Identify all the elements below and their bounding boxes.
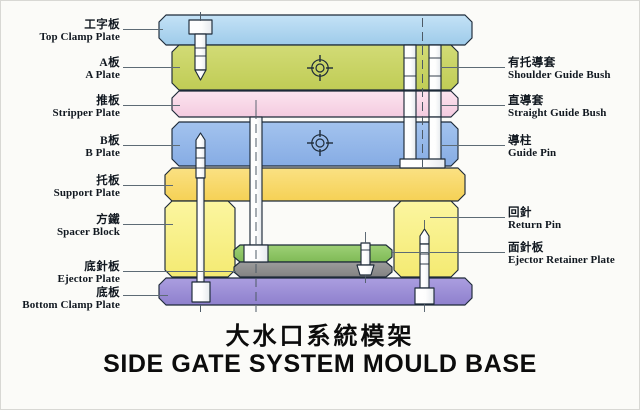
leader-spacer-block [123, 224, 173, 225]
label-cn: 回針 [508, 208, 561, 220]
support-plate [165, 168, 465, 201]
return-pin [420, 244, 429, 288]
leader-stripper-plate [123, 105, 180, 106]
bottom-clamp-bolt [192, 282, 210, 302]
label-cn: 導柱 [508, 136, 556, 148]
label-cn: 有托導套 [508, 58, 611, 70]
label-en: Stripper Plate [53, 108, 121, 119]
label-cn: 底板 [22, 288, 120, 300]
label-cn: 工字板 [39, 20, 120, 32]
leader-bottom-clamp-plate [123, 295, 168, 296]
label-en: Ejector Retainer Plate [508, 255, 615, 266]
label-cn: 面針板 [508, 243, 615, 255]
ejector-bolt [361, 243, 370, 265]
label-top-clamp-plate: 工字板 Top Clamp Plate [39, 20, 120, 43]
label-cn: 托板 [54, 176, 120, 188]
label-en: Return Pin [508, 220, 561, 231]
label-en: Shoulder Guide Bush [508, 70, 611, 81]
label-en: Top Clamp Plate [39, 32, 120, 43]
label-en: Guide Pin [508, 148, 556, 159]
leader-straight-guide-bush [441, 105, 505, 106]
leader-top-clamp-plate [123, 29, 163, 30]
label-en: Ejector Plate [58, 274, 120, 285]
leader-return-pin [430, 217, 505, 218]
straight-guide-bush [404, 91, 416, 117]
label-cn: 直導套 [508, 96, 606, 108]
leader-guide-pin [441, 145, 505, 146]
label-a-plate: A板 A Plate [85, 58, 120, 81]
label-ejector-plate: 底針板 Ejector Plate [58, 262, 120, 285]
label-cn: 推板 [53, 96, 121, 108]
leader-ejector-retainer-plate [392, 252, 505, 253]
straight-guide-bush [429, 91, 441, 117]
label-ejector-retainer-plate: 面針板 Ejector Retainer Plate [508, 243, 615, 266]
label-en: B Plate [85, 148, 120, 159]
diagram-canvas: 工字板 Top Clamp Plate A板 A Plate 推板 Stripp… [0, 0, 640, 410]
label-b-plate: B板 B Plate [85, 136, 120, 159]
shoulder-guide-bush [404, 45, 416, 90]
leader-b-plate [123, 145, 180, 146]
guide-pin [429, 117, 441, 165]
title-chinese: 大水口系統模架 [0, 316, 640, 351]
label-en: A Plate [85, 70, 120, 81]
label-spacer-block: 方鐵 Spacer Block [57, 215, 120, 238]
label-cn: 底針板 [58, 262, 120, 274]
support-plate-bolt [196, 148, 205, 178]
title-english: SIDE GATE SYSTEM MOULD BASE [0, 350, 640, 379]
support-plate-bolt [197, 178, 204, 282]
top-clamp-bolt [189, 20, 212, 34]
label-en: Bottom Clamp Plate [22, 300, 120, 311]
return-pin-bolt [415, 288, 434, 304]
label-bottom-clamp-plate: 底板 Bottom Clamp Plate [22, 288, 120, 311]
shoulder-guide-bush [429, 45, 441, 90]
label-cn: A板 [85, 58, 120, 70]
label-guide-pin: 導柱 Guide Pin [508, 136, 556, 159]
leader-support-plate [123, 185, 173, 186]
label-en: Support Plate [54, 188, 120, 199]
top-clamp-bolt [195, 34, 206, 70]
label-return-pin: 回針 Return Pin [508, 208, 561, 231]
leader-ejector-plate [123, 271, 236, 272]
label-shoulder-guide-bush: 有托導套 Shoulder Guide Bush [508, 58, 611, 81]
guide-pin [404, 117, 416, 165]
label-stripper-plate: 推板 Stripper Plate [53, 96, 121, 119]
label-cn: 方鐵 [57, 215, 120, 227]
label-cn: B板 [85, 136, 120, 148]
leader-a-plate [123, 67, 180, 68]
label-en: Spacer Block [57, 227, 120, 238]
label-en: Straight Guide Bush [508, 108, 606, 119]
ejector-bolt-head [357, 265, 374, 275]
leader-shoulder-guide-bush [441, 67, 505, 68]
label-support-plate: 托板 Support Plate [54, 176, 120, 199]
label-straight-guide-bush: 直導套 Straight Guide Bush [508, 96, 606, 119]
